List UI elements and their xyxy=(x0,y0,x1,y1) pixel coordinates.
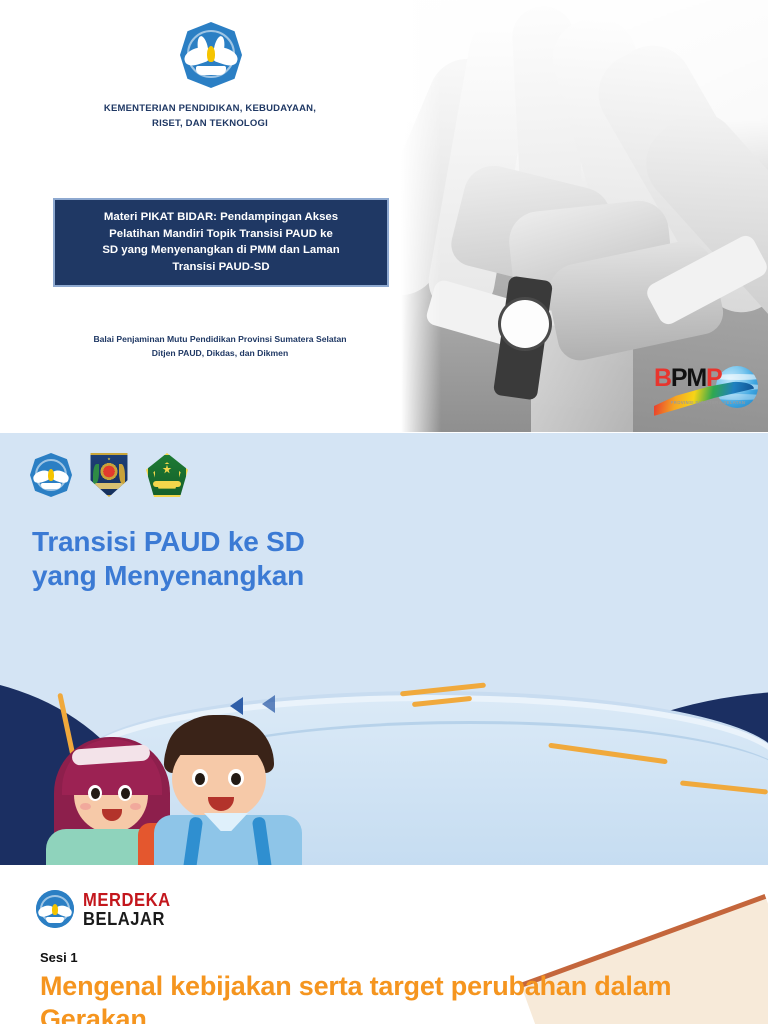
slide-3-title-line-1: Mengenal kebijakan serta target xyxy=(40,971,443,1001)
institution-footer: Balai Penjaminan Mutu Pendidikan Provins… xyxy=(40,333,400,361)
presentation-title-box: Materi PIKAT BIDAR: Pendampingan Akses P… xyxy=(53,198,389,287)
bpmp-wordmark: BPMP xyxy=(654,366,758,391)
children-illustration xyxy=(0,433,768,865)
slide-3-sesi-1: MERDEKA BELAJAR Sesi 1 Mengenal kebijaka… xyxy=(0,866,768,1024)
title-line-3: SD yang Menyenangkan di PMM dan Laman xyxy=(65,242,377,259)
footer-line-1: Balai Penjaminan Mutu Pendidikan Provins… xyxy=(40,333,400,347)
title-line-2: Pelatihan Mandiri Topik Transisi PAUD ke xyxy=(65,226,377,243)
bpmp-letter-m: M xyxy=(686,364,706,392)
footer-line-2: Ditjen PAUD, Dikdas, dan Dikmen xyxy=(40,347,400,361)
slides-document: KEMENTERIAN PENDIDIKAN, KEBUDAYAAN, RISE… xyxy=(0,0,768,1024)
title-line-1: Materi PIKAT BIDAR: Pendampingan Akses xyxy=(65,209,377,226)
ministry-line-2: RISET, DAN TEKNOLOGI xyxy=(60,117,360,132)
merdeka-wordmark: MERDEKA xyxy=(83,891,171,909)
kemendagri-emblem-icon xyxy=(88,453,130,497)
bpmp-tagline: PROVINSI SUMATERA SELATAN xyxy=(656,400,760,405)
slide-2-heading: Transisi PAUD ke SD yang Menyenangkan xyxy=(32,525,452,593)
bpmp-logo: BPMP PROVINSI SUMATERA SELATAN xyxy=(648,362,760,414)
merdeka-belajar-logo: MERDEKA BELAJAR xyxy=(36,890,178,928)
bpmp-letter-p1: P xyxy=(671,364,686,392)
slide-1-cover: KEMENTERIAN PENDIDIKAN, KEBUDAYAAN, RISE… xyxy=(0,0,768,432)
ministry-name: KEMENTERIAN PENDIDIKAN, KEBUDAYAAN, RISE… xyxy=(60,102,360,131)
title-line-4: Transisi PAUD-SD xyxy=(65,259,377,276)
tut-wuri-handayani-icon xyxy=(30,453,72,497)
slide-2-transisi-paud: Transisi PAUD ke SD yang Menyenangkan xyxy=(0,433,768,865)
kemenag-emblem-icon xyxy=(146,453,188,497)
boy-with-backpack xyxy=(148,715,318,865)
heading-line-2: yang Menyenangkan xyxy=(32,560,304,591)
wristwatch-detail xyxy=(501,300,549,348)
tut-wuri-handayani-icon xyxy=(180,22,242,88)
institution-logos xyxy=(30,453,188,497)
slide-3-title: Mengenal kebijakan serta target perubaha… xyxy=(40,970,680,1024)
ministry-line-1: KEMENTERIAN PENDIDIKAN, KEBUDAYAAN, xyxy=(60,102,360,117)
tut-wuri-handayani-icon xyxy=(36,890,74,928)
bpmp-letter-p2: P xyxy=(706,364,721,392)
session-label: Sesi 1 xyxy=(40,950,78,965)
heading-line-1: Transisi PAUD ke SD xyxy=(32,526,305,557)
belajar-wordmark: BELAJAR xyxy=(83,910,171,928)
bpmp-letter-b: B xyxy=(654,364,671,392)
